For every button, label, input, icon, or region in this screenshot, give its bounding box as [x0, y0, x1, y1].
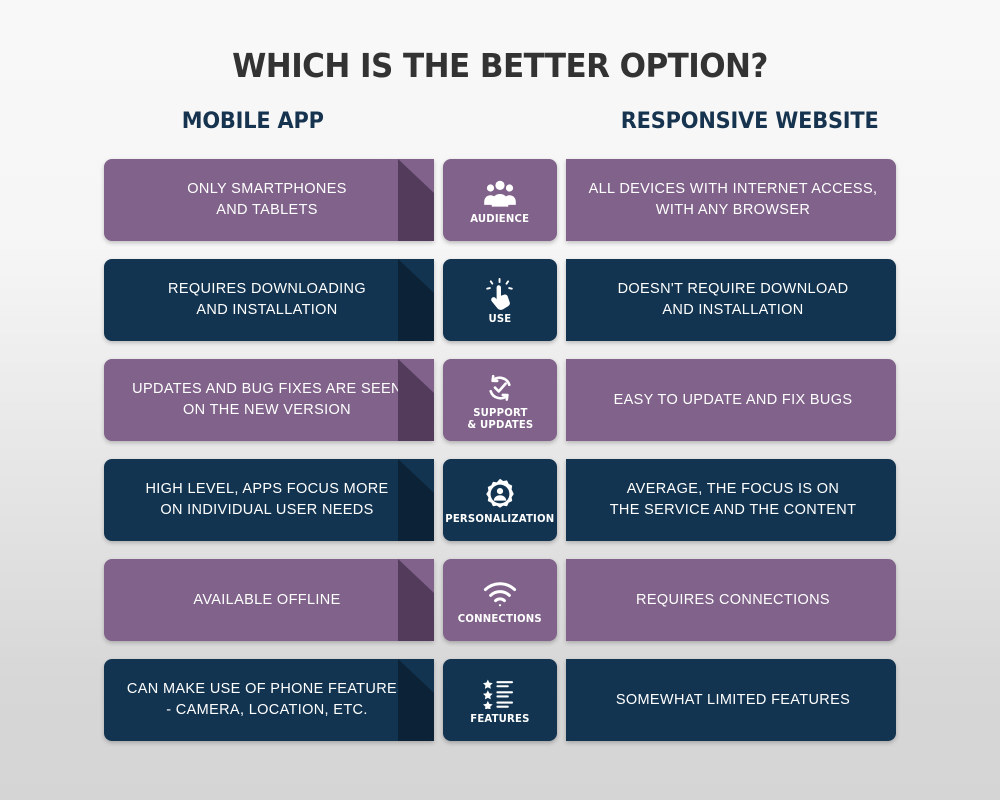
- responsive-website-cell: AVERAGE, THE FOCUS IS ONTHE SERVICE AND …: [566, 459, 896, 541]
- comparison-row: UPDATES AND BUG FIXES ARE SEENON THE NEW…: [0, 359, 1000, 441]
- star-list-icon: [482, 677, 518, 711]
- comparison-row: AVAILABLE OFFLINE CONNECTIONS REQUIRES C…: [0, 559, 1000, 641]
- category-card: SUPPORT& UPDATES: [443, 359, 557, 441]
- mobile-app-cell: AVAILABLE OFFLINE: [104, 559, 434, 641]
- refresh-check-icon: [483, 371, 517, 405]
- mobile-app-cell: REQUIRES DOWNLOADINGAND INSTALLATION: [104, 259, 434, 341]
- category-card: USE: [443, 259, 557, 341]
- gear-person-icon: [484, 477, 516, 511]
- responsive-website-cell: SOMEWHAT LIMITED FEATURES: [566, 659, 896, 741]
- responsive-website-cell-text: EASY TO UPDATE AND FIX BUGS: [614, 390, 853, 411]
- mobile-app-cell: ONLY SMARTPHONESAND TABLETS: [104, 159, 434, 241]
- left-fold-icon: [398, 359, 434, 441]
- responsive-website-cell-text: REQUIRES CONNECTIONS: [636, 590, 830, 611]
- responsive-website-cell: ALL DEVICES WITH INTERNET ACCESS,WITH AN…: [566, 159, 896, 241]
- mobile-app-cell-text: UPDATES AND BUG FIXES ARE SEENON THE NEW…: [132, 379, 402, 420]
- responsive-website-cell-text: ALL DEVICES WITH INTERNET ACCESS,WITH AN…: [589, 179, 878, 220]
- column-header-responsive-website: RESPONSIVE WEBSITE: [621, 109, 879, 134]
- responsive-website-cell-text: AVERAGE, THE FOCUS IS ONTHE SERVICE AND …: [610, 479, 857, 520]
- left-fold-icon: [398, 159, 434, 241]
- responsive-website-cell: DOESN'T REQUIRE DOWNLOADAND INSTALLATION: [566, 259, 896, 341]
- responsive-website-cell-text: DOESN'T REQUIRE DOWNLOADAND INSTALLATION: [618, 279, 849, 320]
- left-fold-icon: [398, 559, 434, 641]
- left-fold-icon: [398, 259, 434, 341]
- column-header-mobile-app: MOBILE APP: [182, 109, 324, 134]
- comparison-row: HIGH LEVEL, APPS FOCUS MOREON INDIVIDUAL…: [0, 459, 1000, 541]
- category-label: USE: [489, 314, 512, 326]
- mobile-app-cell: UPDATES AND BUG FIXES ARE SEENON THE NEW…: [104, 359, 434, 441]
- comparison-row: ONLY SMARTPHONESAND TABLETS AUDIENCE ALL…: [0, 159, 1000, 241]
- category-label: SUPPORT& UPDATES: [467, 408, 533, 432]
- audience-people-icon: [483, 177, 517, 211]
- comparison-row: CAN MAKE USE OF PHONE FEATURES- CAMERA, …: [0, 659, 1000, 741]
- mobile-app-cell: HIGH LEVEL, APPS FOCUS MOREON INDIVIDUAL…: [104, 459, 434, 541]
- mobile-app-cell-text: CAN MAKE USE OF PHONE FEATURES- CAMERA, …: [127, 679, 407, 720]
- responsive-website-cell: REQUIRES CONNECTIONS: [566, 559, 896, 641]
- comparison-rows: ONLY SMARTPHONESAND TABLETS AUDIENCE ALL…: [0, 159, 1000, 741]
- category-label: PERSONALIZATION: [445, 514, 554, 526]
- left-fold-icon: [398, 659, 434, 741]
- page-title: WHICH IS THE BETTER OPTION?: [30, 0, 970, 85]
- responsive-website-cell-text: SOMEWHAT LIMITED FEATURES: [616, 690, 850, 711]
- mobile-app-cell-text: REQUIRES DOWNLOADINGAND INSTALLATION: [168, 279, 366, 320]
- category-label: FEATURES: [470, 714, 529, 726]
- category-card: PERSONALIZATION: [443, 459, 557, 541]
- left-fold-icon: [398, 459, 434, 541]
- category-label: CONNECTIONS: [458, 614, 542, 626]
- category-card: AUDIENCE: [443, 159, 557, 241]
- mobile-app-cell-text: AVAILABLE OFFLINE: [193, 590, 340, 611]
- comparison-row: REQUIRES DOWNLOADINGAND INSTALLATION USE: [0, 259, 1000, 341]
- wifi-signal-icon: [482, 577, 518, 611]
- column-headers: MOBILE APP RESPONSIVE WEBSITE: [0, 109, 1000, 153]
- category-card: CONNECTIONS: [443, 559, 557, 641]
- mobile-app-cell: CAN MAKE USE OF PHONE FEATURES- CAMERA, …: [104, 659, 434, 741]
- infographic-page: WHICH IS THE BETTER OPTION? MOBILE APP R…: [0, 0, 1000, 800]
- mobile-app-cell-text: ONLY SMARTPHONESAND TABLETS: [187, 179, 347, 220]
- category-label: AUDIENCE: [471, 214, 530, 226]
- mobile-app-cell-text: HIGH LEVEL, APPS FOCUS MOREON INDIVIDUAL…: [145, 479, 388, 520]
- tap-hand-icon: [485, 277, 515, 311]
- responsive-website-cell: EASY TO UPDATE AND FIX BUGS: [566, 359, 896, 441]
- category-card: FEATURES: [443, 659, 557, 741]
